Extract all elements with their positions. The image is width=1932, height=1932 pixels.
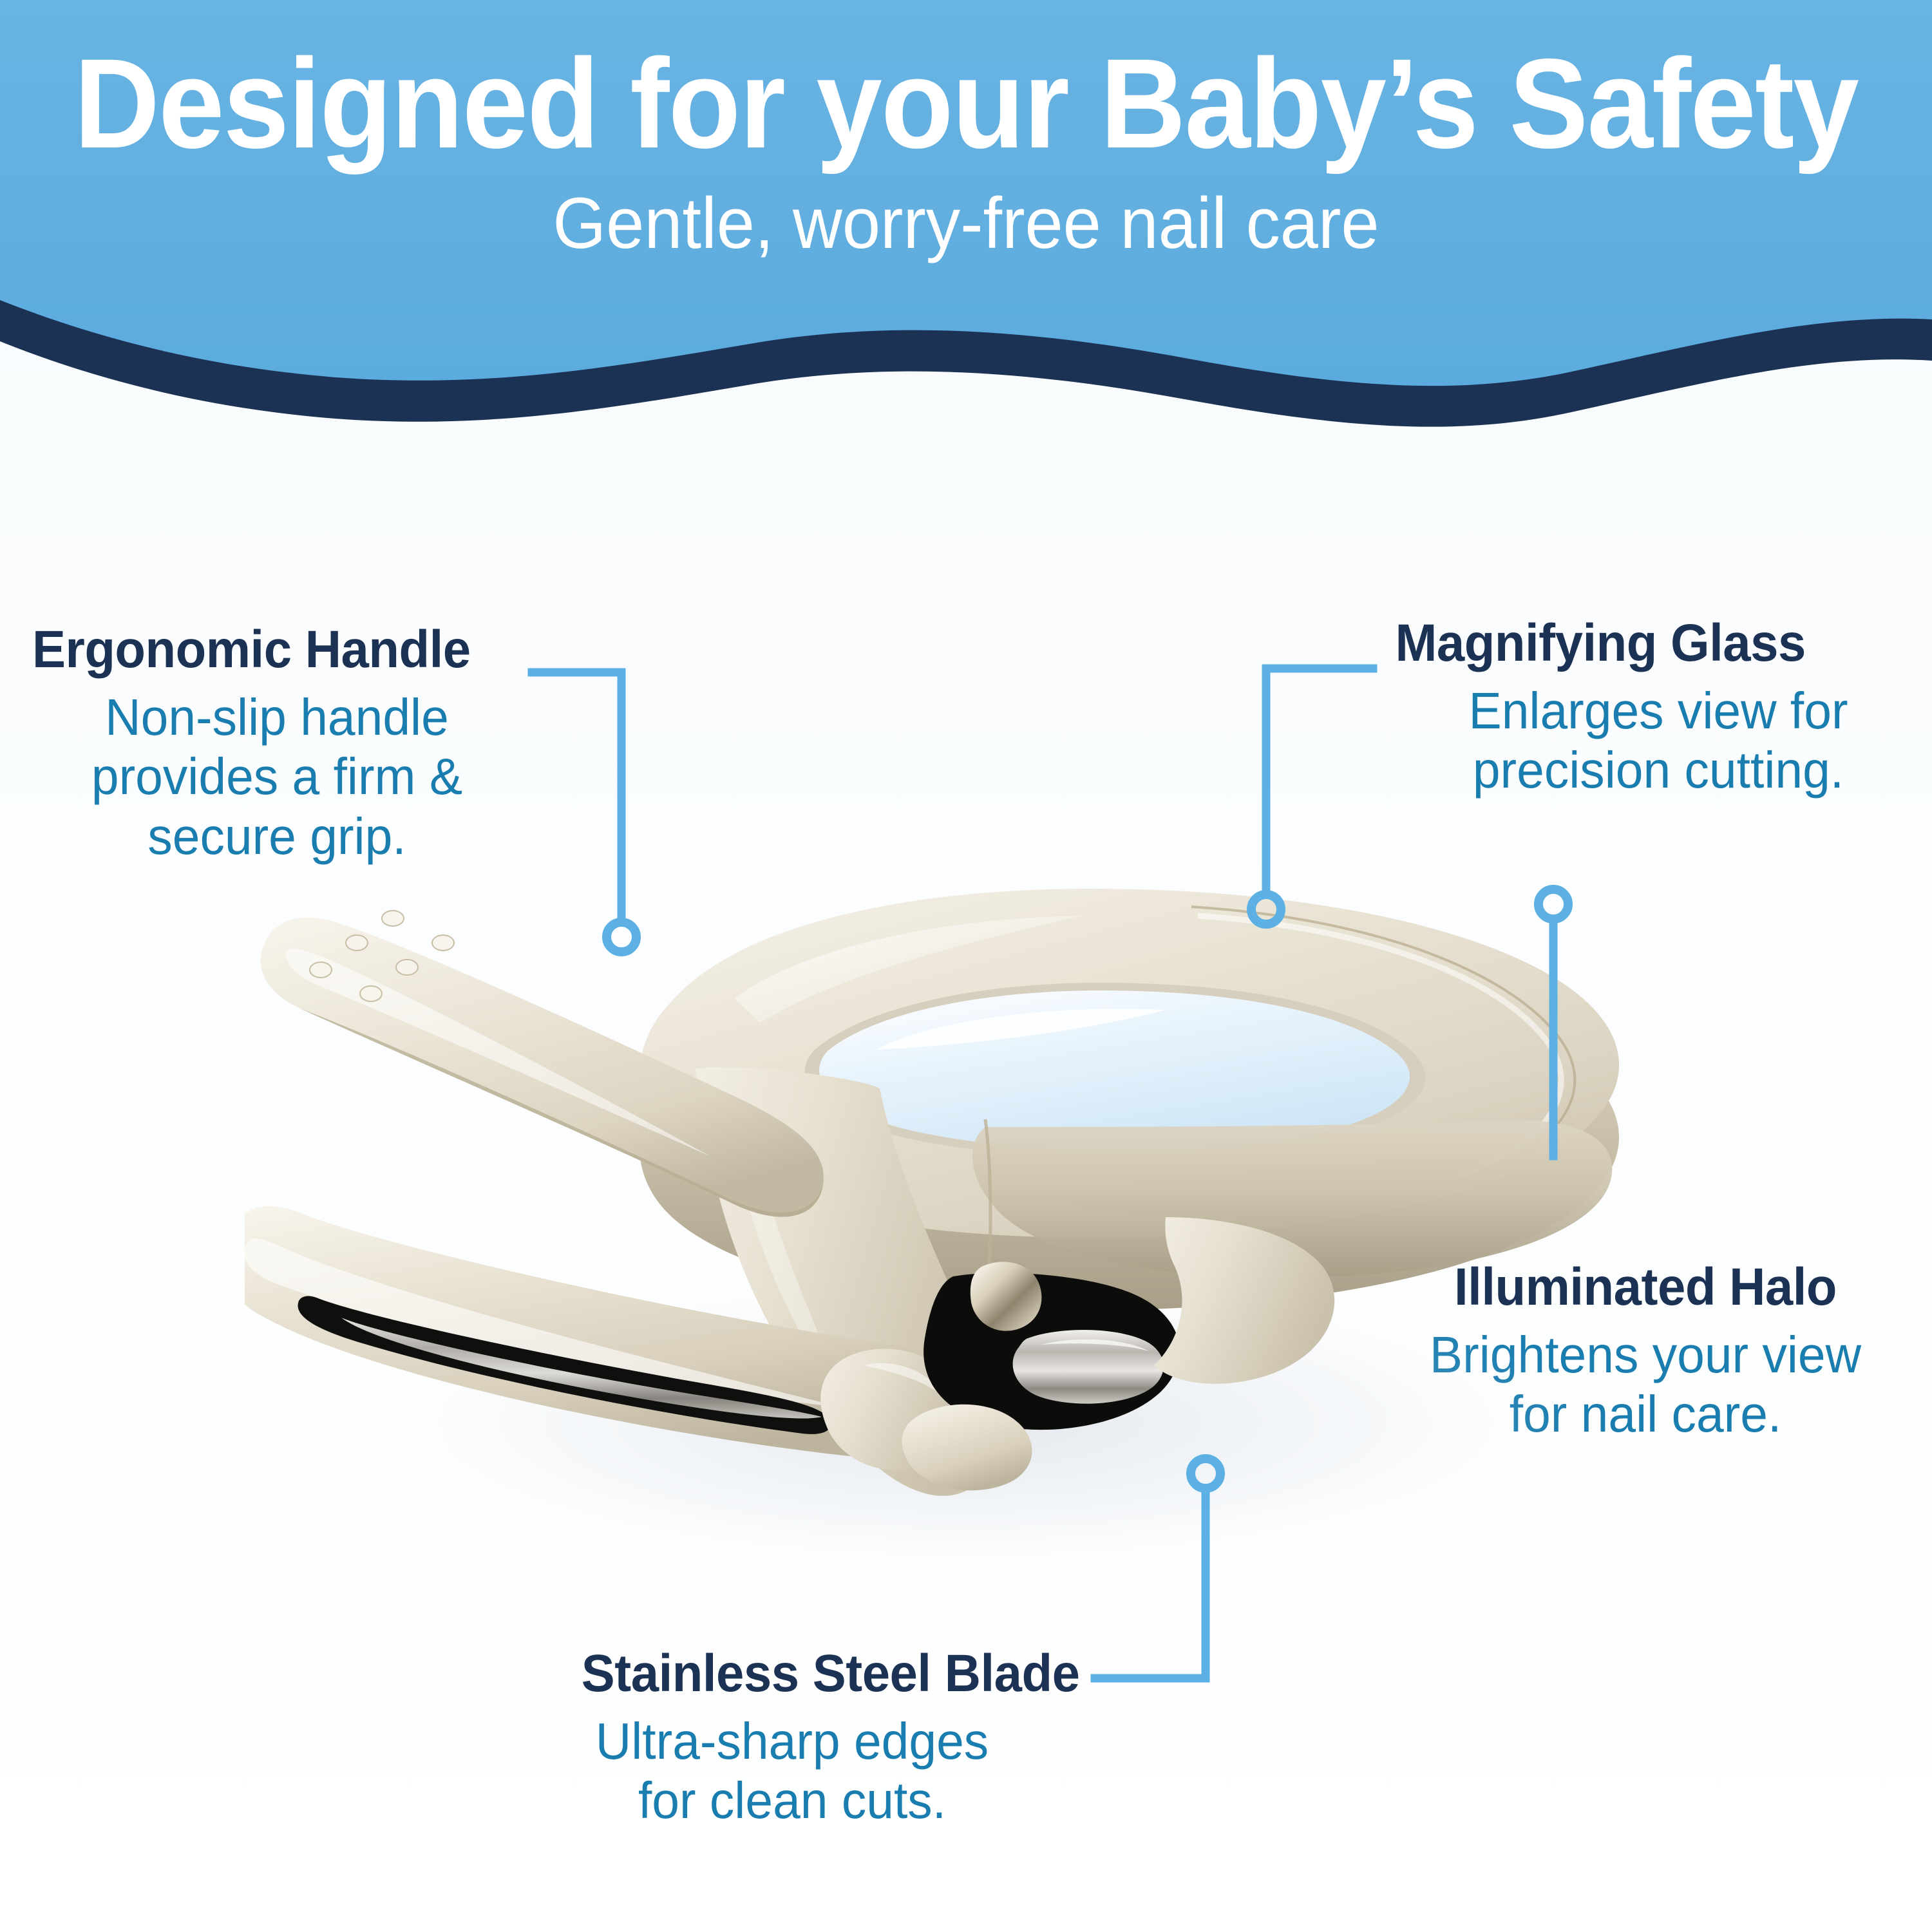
callout-body-line: Ultra-sharp edges: [502, 1712, 1083, 1772]
callout-body-line: provides a firm &: [30, 747, 524, 807]
chrome-blade-pin: [971, 1262, 1042, 1331]
infographic-page: Designed for your Baby’s Safety Gentle, …: [0, 0, 1932, 1932]
page-title: Designed for your Baby’s Safety: [68, 39, 1864, 169]
callout-body-line: precision cutting.: [1392, 741, 1924, 800]
callout-ergonomic-handle: Ergonomic Handle Non-slip handle provide…: [19, 621, 535, 867]
callout-body-line: Non-slip handle: [30, 688, 524, 748]
callout-title-magnifying-glass: Magnifying Glass: [1396, 615, 1922, 672]
callout-title-ergonomic-handle: Ergonomic Handle: [32, 621, 522, 679]
callout-stainless-steel-blade: Stainless Steel Blade Ultra-sharp edges …: [489, 1645, 1095, 1831]
callout-body-magnifying-glass: Enlarges view for precision cutting.: [1392, 681, 1924, 801]
header-banner: Designed for your Baby’s Safety Gentle, …: [0, 0, 1932, 451]
callout-body-line: Enlarges view for: [1392, 681, 1924, 741]
callout-body-line: for clean cuts.: [502, 1771, 1083, 1831]
page-subtitle: Gentle, worry-free nail care: [48, 185, 1884, 261]
callout-body-ergonomic-handle: Non-slip handle provides a firm & secure…: [30, 688, 524, 867]
product-image-baby-nail-clipper: [245, 857, 1713, 1597]
header-text-group: Designed for your Baby’s Safety Gentle, …: [0, 39, 1932, 261]
callout-body-stainless-steel-blade: Ultra-sharp edges for clean cuts.: [502, 1712, 1083, 1832]
callout-title-stainless-steel-blade: Stainless Steel Blade: [505, 1645, 1080, 1703]
callout-magnifying-glass: Magnifying Glass Enlarges view for preci…: [1381, 615, 1932, 800]
